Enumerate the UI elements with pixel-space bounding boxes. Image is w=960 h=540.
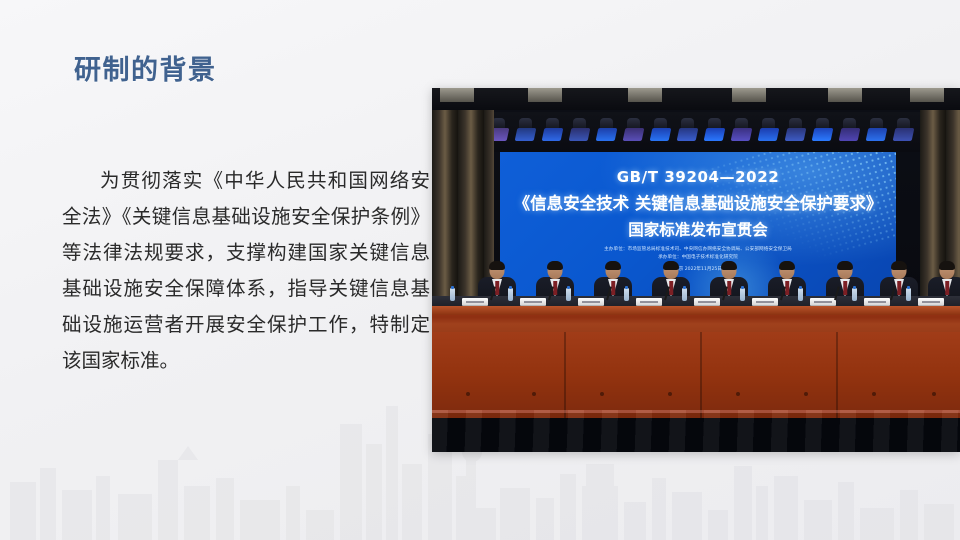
- stage-light-icon: [651, 118, 670, 144]
- stage-light-icon: [813, 118, 832, 144]
- stage-light-icon: [867, 118, 886, 144]
- stage-light-icon: [894, 118, 913, 144]
- water-bottle: [906, 288, 911, 301]
- water-bottle: [566, 288, 571, 301]
- led-organizer-line: 主办单位：市场监管总局标准技术司、中央网信办网络安全协调局、公安部网络安全保卫局: [604, 246, 792, 252]
- stage-light-icon: [624, 118, 643, 144]
- stage-light-icon: [543, 118, 562, 144]
- body-paragraph: 为贯彻落实《中华人民共和国网络安全法》《关键信息基础设施安全保护条例》等法律法规…: [62, 163, 430, 379]
- nameplate: [810, 298, 836, 306]
- nameplate: [462, 298, 488, 306]
- lighting-truss: [432, 112, 960, 152]
- stage-light-icon: [570, 118, 589, 144]
- conference-photo: GB/T 39204—2022 《信息安全技术 关键信息基础设施安全保护要求》 …: [432, 88, 960, 452]
- nameplate: [918, 298, 944, 306]
- nameplate: [578, 298, 604, 306]
- ceiling-strip: [432, 88, 960, 110]
- nameplate: [520, 298, 546, 306]
- stage-light-icon: [732, 118, 751, 144]
- water-bottle: [798, 288, 803, 301]
- water-bottle: [740, 288, 745, 301]
- stage-light-icon: [705, 118, 724, 144]
- stage-light-icon: [840, 118, 859, 144]
- led-standard-name: 《信息安全技术 关键信息基础设施安全保护要求》: [514, 190, 883, 214]
- water-bottle: [682, 288, 687, 301]
- stage-light-icon: [597, 118, 616, 144]
- water-bottle: [624, 288, 629, 301]
- nameplate: [752, 298, 778, 306]
- page-title: 研制的背景: [74, 48, 217, 87]
- nameplate: [636, 298, 662, 306]
- led-event-name: 国家标准发布宣贯会: [628, 218, 768, 240]
- stage-light-icon: [759, 118, 778, 144]
- slide-canvas: 研制的背景 为贯彻落实《中华人民共和国网络安全法》《关键信息基础设施安全保护条例…: [0, 0, 960, 540]
- stage-light-icon: [678, 118, 697, 144]
- led-standard-number: GB/T 39204—2022: [617, 168, 780, 186]
- red-carpet: [432, 410, 960, 452]
- water-bottle: [508, 288, 513, 301]
- stage-light-icon: [786, 118, 805, 144]
- water-bottle: [450, 288, 455, 301]
- stage-light-icon: [516, 118, 535, 144]
- water-bottle: [852, 288, 857, 301]
- nameplate: [694, 298, 720, 306]
- podium-desk: [432, 306, 960, 418]
- nameplate: [864, 298, 890, 306]
